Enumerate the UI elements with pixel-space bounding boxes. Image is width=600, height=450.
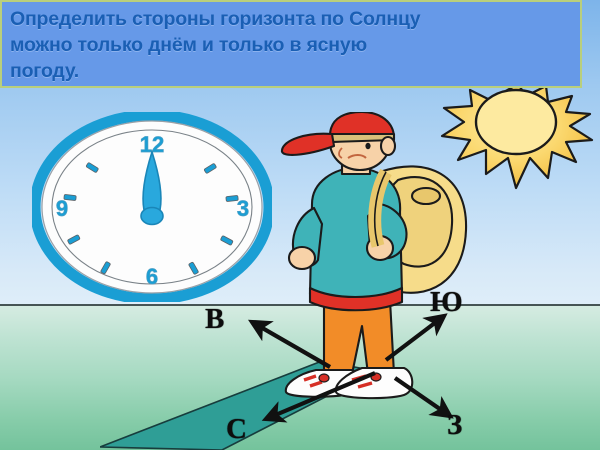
clock-numeral-9: 9 xyxy=(56,196,68,221)
clock-numeral-3: 3 xyxy=(237,196,249,221)
boy-figure xyxy=(276,112,471,400)
caption-line-1: Определить стороны горизонта по Солнцу xyxy=(10,6,572,32)
direction-label-north: С xyxy=(226,415,247,444)
direction-label-south: Ю xyxy=(430,288,463,317)
caption-line-3: погоду. xyxy=(10,58,572,84)
direction-label-east-v: В xyxy=(205,305,224,334)
slide-canvas: 12 3 6 9 xyxy=(0,0,600,450)
caption-line-2: можно только днём и только в ясную xyxy=(10,32,572,58)
caption-textbox: Определить стороны горизонта по Солнцу м… xyxy=(0,0,582,88)
analog-clock: 12 3 6 9 xyxy=(32,112,272,302)
clock-numeral-6: 6 xyxy=(146,264,158,289)
eye xyxy=(365,143,370,149)
direction-label-west: З xyxy=(447,411,462,440)
cap-brim xyxy=(282,134,334,155)
hand-left xyxy=(289,247,315,269)
